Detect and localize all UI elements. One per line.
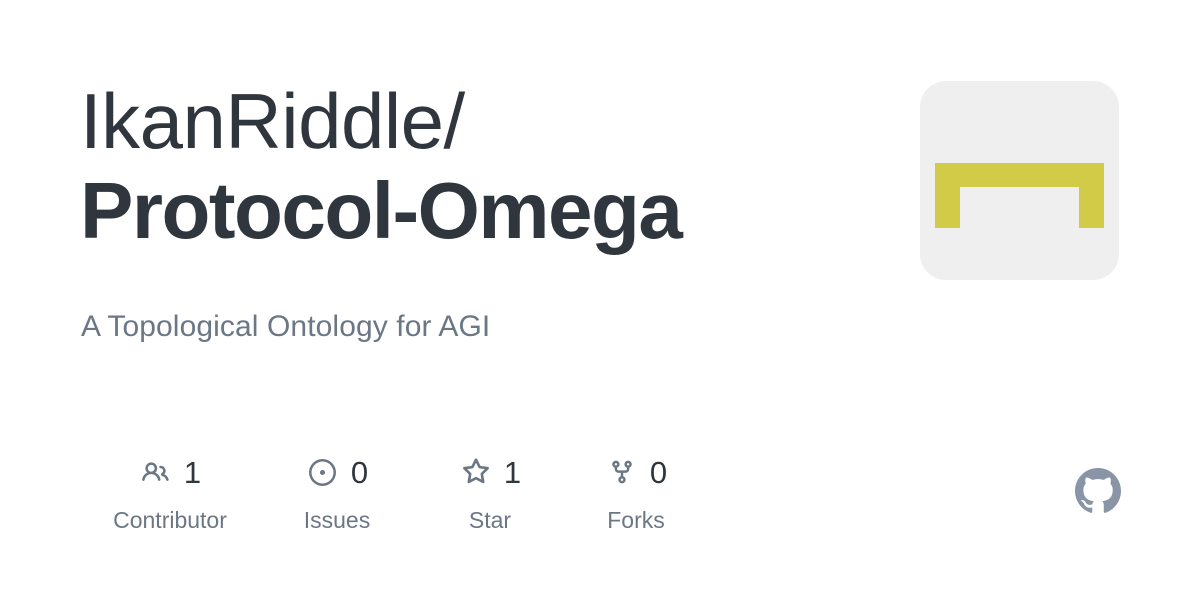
stat-stars[interactable]: 1 Star bbox=[414, 452, 566, 534]
repo-name[interactable]: Protocol-Omega bbox=[80, 168, 870, 254]
stat-stars-top: 1 bbox=[459, 452, 521, 492]
repo-forked-icon bbox=[605, 455, 639, 489]
stat-issues-value: 0 bbox=[351, 457, 368, 488]
issue-opened-icon bbox=[306, 455, 340, 489]
stat-issues-label: Issues bbox=[304, 507, 370, 534]
repository-social-card: IkanRiddle/ Protocol-Omega A Topological… bbox=[0, 0, 1200, 600]
stat-forks[interactable]: 0 Forks bbox=[566, 452, 706, 534]
stat-forks-value: 0 bbox=[650, 457, 667, 488]
bridge-arch-glyph-icon bbox=[920, 81, 1119, 280]
stat-contributors-top: 1 bbox=[139, 452, 201, 492]
stat-contributors[interactable]: 1 Contributor bbox=[80, 452, 260, 534]
repo-description: A Topological Ontology for AGI bbox=[81, 310, 490, 344]
stat-forks-label: Forks bbox=[607, 507, 665, 534]
repo-stats: 1 Contributor 0 Issues bbox=[80, 452, 706, 534]
owner-avatar[interactable] bbox=[920, 81, 1119, 280]
people-icon bbox=[139, 455, 173, 489]
page-title: IkanRiddle/ Protocol-Omega bbox=[80, 82, 870, 254]
stat-stars-label: Star bbox=[469, 507, 511, 534]
stat-stars-value: 1 bbox=[504, 457, 521, 488]
star-icon bbox=[459, 455, 493, 489]
stat-forks-top: 0 bbox=[605, 452, 667, 492]
github-mark-icon bbox=[1075, 468, 1121, 514]
stat-contributors-label: Contributor bbox=[113, 507, 227, 534]
stat-issues[interactable]: 0 Issues bbox=[260, 452, 414, 534]
stat-contributors-value: 1 bbox=[184, 457, 201, 488]
stat-issues-top: 0 bbox=[306, 452, 368, 492]
repo-owner-name[interactable]: IkanRiddle/ bbox=[80, 82, 870, 160]
